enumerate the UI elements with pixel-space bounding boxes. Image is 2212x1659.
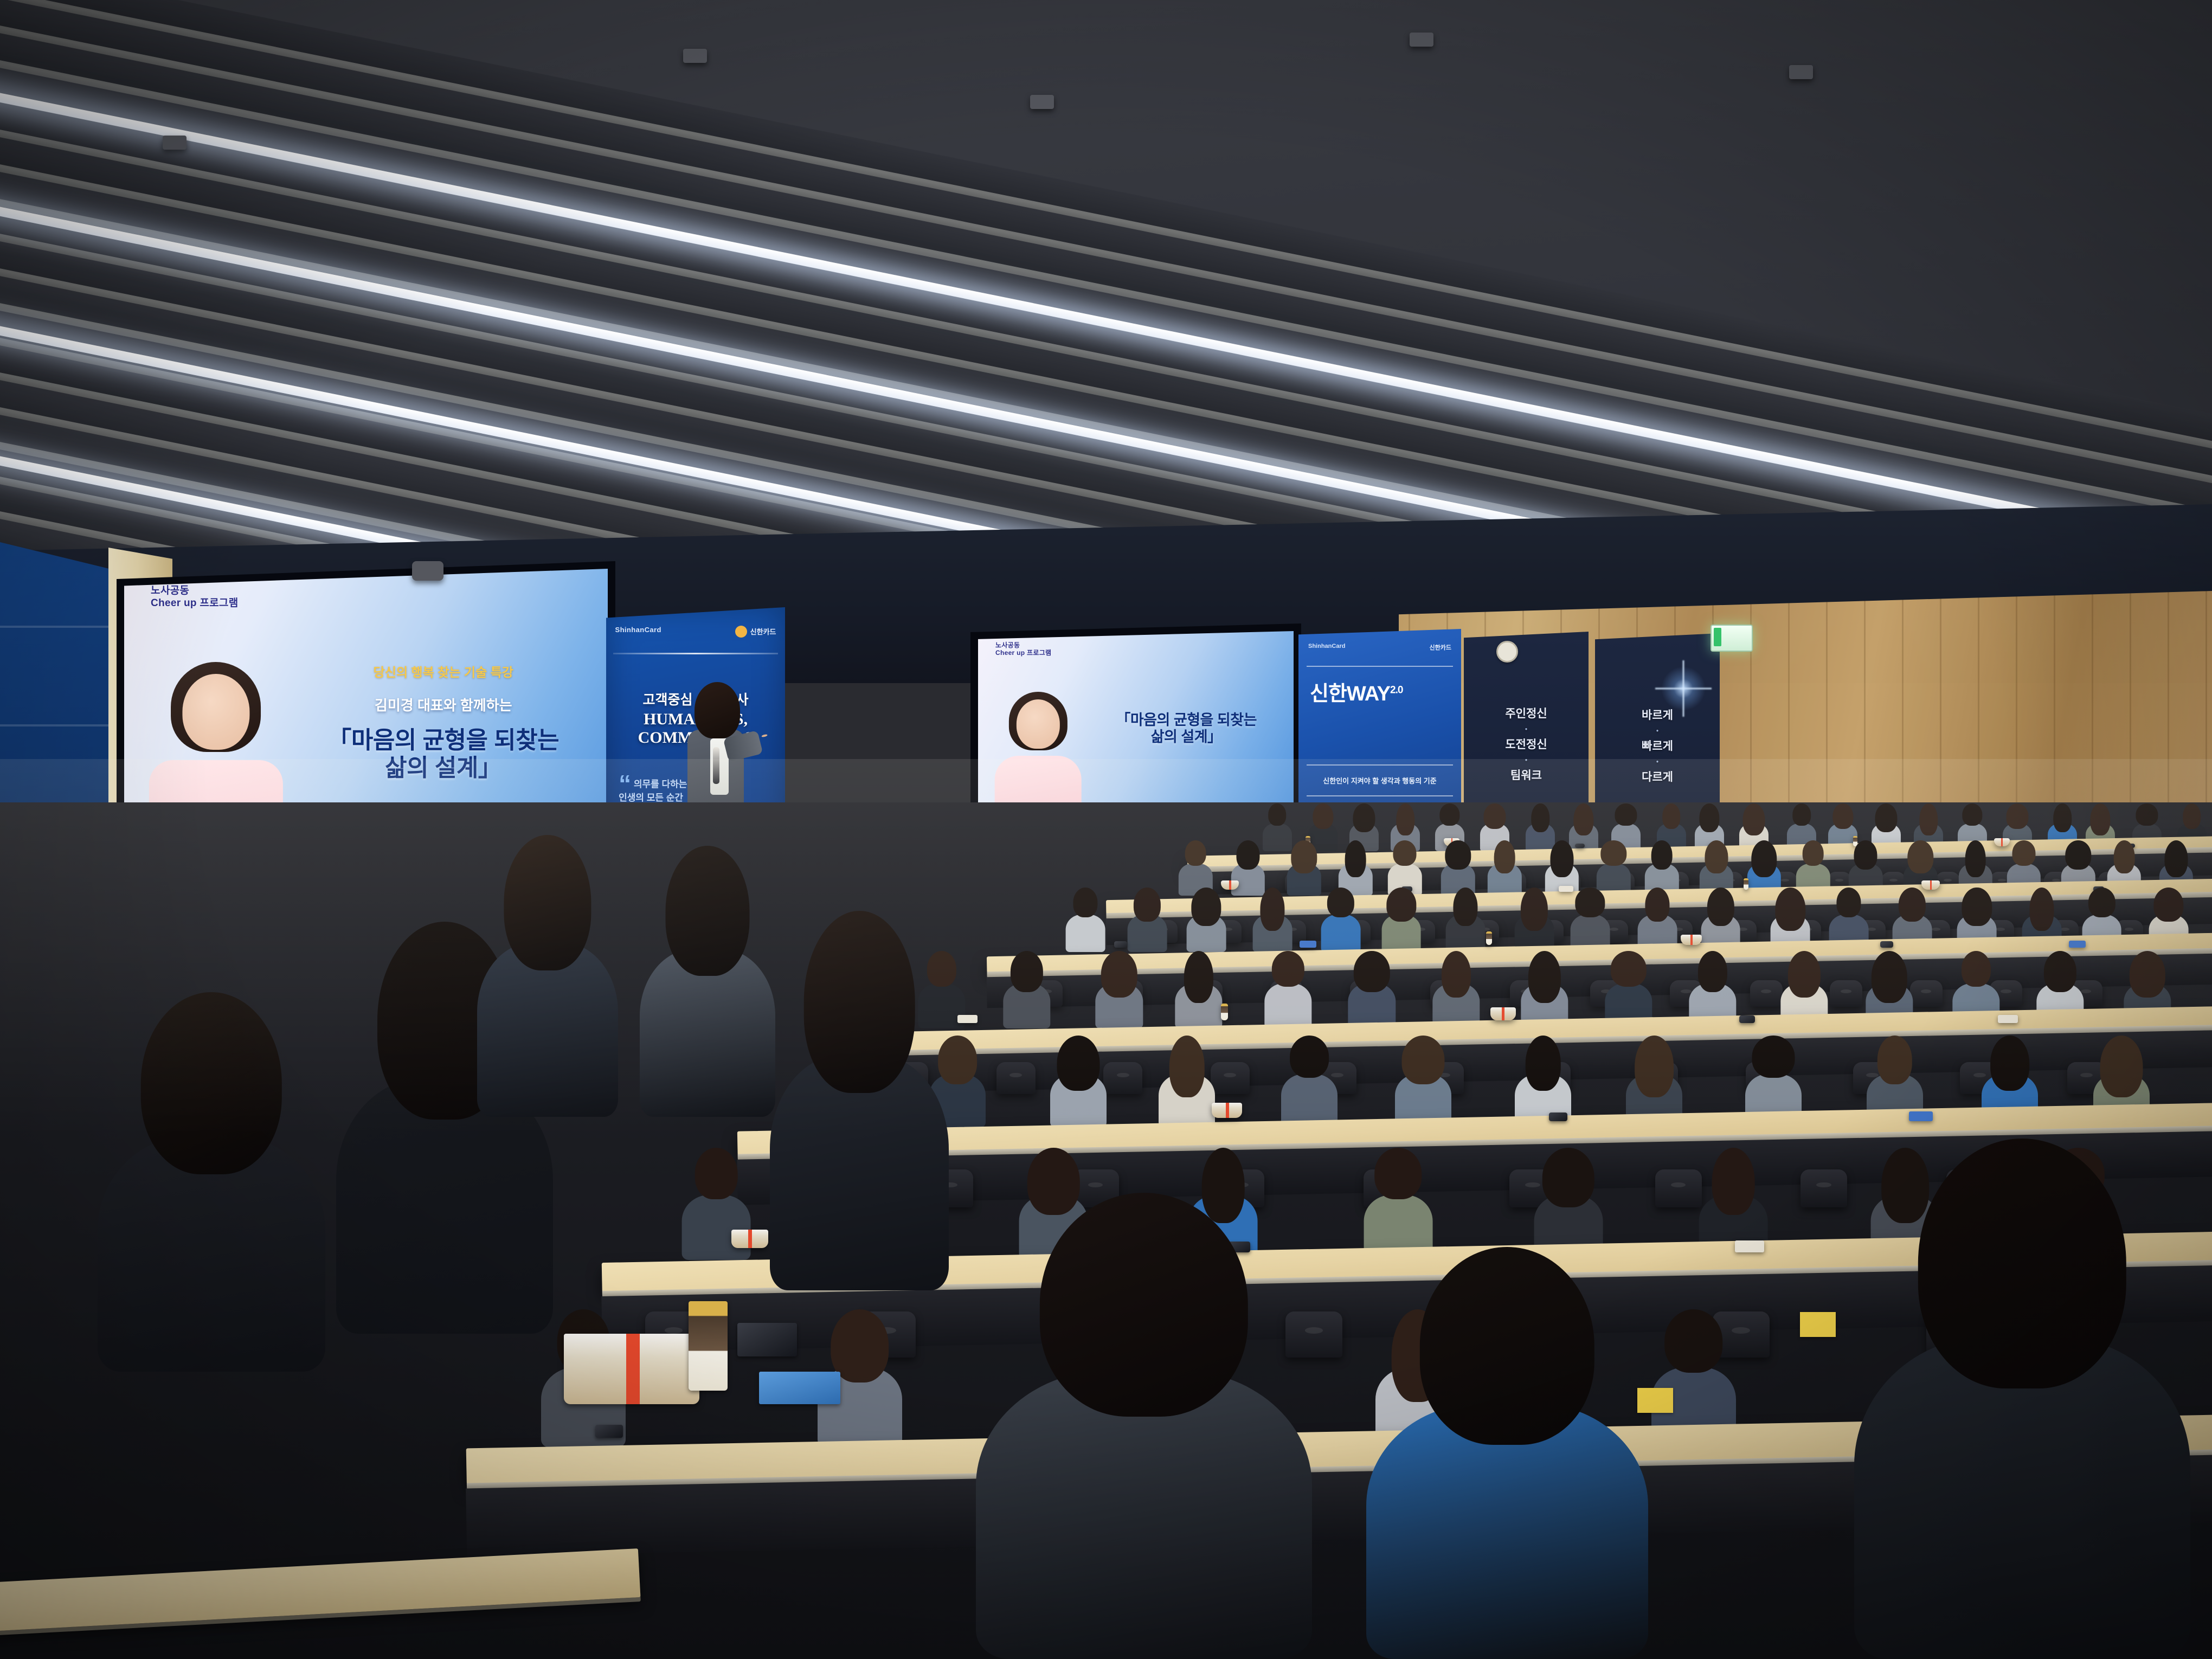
audience-member <box>1175 951 1222 1028</box>
smartphone[interactable] <box>1114 941 1127 947</box>
repeater-title-line1: 「마음의 균형을 되찾는 <box>1089 712 1284 729</box>
chair[interactable] <box>1103 1062 1142 1094</box>
foreground-attendee <box>976 1193 1312 1659</box>
foreground-attendee <box>770 911 949 1290</box>
audience-member <box>1186 888 1226 952</box>
panel-divider <box>613 653 778 654</box>
drink-bottle <box>689 1301 728 1391</box>
chair[interactable] <box>996 1062 1036 1094</box>
foreground-attendee <box>477 835 618 1117</box>
foreground-attendee <box>640 846 775 1117</box>
repeater-corner-label: 노사공동 Cheer up 프로그램 <box>995 641 1051 657</box>
wall-clock-icon <box>1496 641 1518 663</box>
blue-notebook <box>957 1015 978 1023</box>
smartphone[interactable] <box>1549 1113 1567 1121</box>
foreground-attendee <box>1854 1139 2190 1659</box>
smartphone[interactable] <box>1880 941 1893 947</box>
boxed-lunch <box>1212 1103 1242 1118</box>
blue-notebook <box>1909 1111 1933 1121</box>
boxed-lunch <box>1490 1007 1516 1020</box>
way-subtitle: 신한인이 지켜야 할 생각과 행동의 기준 <box>1298 775 1461 786</box>
slide-subtitle: 김미경 대표와 함께하는 <box>293 695 593 715</box>
audience-member <box>1159 1036 1215 1128</box>
audience-member <box>1003 951 1050 1028</box>
values-right-column: 바르게 • 빠르게 • 다르게 <box>1595 706 1720 788</box>
audience-member <box>1050 1036 1107 1128</box>
drink-bottle <box>1486 931 1492 945</box>
chair[interactable] <box>1211 1062 1250 1094</box>
audience-member <box>1446 888 1486 952</box>
brand-mark-icon <box>735 626 747 638</box>
audience-member <box>1321 888 1361 952</box>
drink-bottle <box>1744 878 1749 890</box>
audience-member <box>1281 1036 1338 1128</box>
way-logo-right: 신한카드 <box>1430 643 1451 652</box>
drink-bottle <box>1221 1004 1228 1020</box>
audience-member <box>1381 888 1421 952</box>
values-left-column: 주인정신 • 도전정신 • 팀워크 <box>1464 704 1589 786</box>
blue-notebook <box>1300 941 1316 948</box>
smartphone[interactable] <box>595 1425 623 1438</box>
audience-member <box>1128 888 1167 952</box>
handheld-microphone-icon <box>713 747 719 784</box>
foreground-attendee <box>98 992 325 1372</box>
audience-member <box>1253 888 1293 952</box>
audience-member <box>1364 1148 1432 1260</box>
boxed-lunch <box>1681 935 1702 946</box>
audience-member <box>1264 951 1311 1028</box>
chair[interactable] <box>1801 1169 1847 1207</box>
blue-notebook <box>2069 941 2086 948</box>
boxed-lunch <box>564 1334 699 1404</box>
audience-member <box>1637 888 1677 952</box>
slide-eyebrow: 당신의 행복 찾는 기술 특강 <box>293 662 593 680</box>
boxed-lunch <box>731 1230 768 1248</box>
chair[interactable] <box>1750 980 1783 1007</box>
foreground-attendee <box>1366 1247 1648 1659</box>
repeater-title-line2: 삶의 설계」 <box>1089 729 1284 745</box>
track-spotlight-icon <box>412 561 443 581</box>
audience-member <box>1395 1036 1451 1128</box>
audience-member <box>1348 951 1396 1028</box>
panel-logo-right: 신한카드 <box>735 626 776 638</box>
smartphone[interactable] <box>737 1323 797 1356</box>
audience-member <box>1096 951 1143 1028</box>
screen-corner-label: 노사공동 Cheer up 프로그램 <box>151 584 238 609</box>
chair[interactable] <box>1655 1169 1702 1207</box>
light-glare-icon <box>1659 664 1708 713</box>
slide-title-line2: 삶의 설계」 <box>293 754 593 782</box>
audience-member <box>1605 951 1652 1028</box>
panel-logo-left: ShinhanCard <box>615 626 661 634</box>
chair[interactable] <box>1910 980 1943 1007</box>
audience-member <box>1515 888 1554 952</box>
emergency-exit-icon <box>1711 625 1753 652</box>
way-logo-left: ShinhanCard <box>1308 643 1345 650</box>
blue-notebook <box>1735 1240 1764 1252</box>
audience-member <box>1432 951 1480 1028</box>
smartphone[interactable] <box>1739 1015 1755 1023</box>
yellow-sticky-note <box>1800 1312 1836 1337</box>
audience-member <box>1066 888 1105 952</box>
blue-notebook <box>1998 1015 2018 1023</box>
way-title: 신한WAY2.0 <box>1310 677 1403 706</box>
audience-member <box>1521 951 1568 1028</box>
audience-member <box>1571 888 1610 952</box>
auditorium-photo: 주인정신 • 도전정신 • 팀워크 바르게 • 빠르게 • 다르게 노사공동 C… <box>0 0 2212 1659</box>
blue-notebook <box>759 1372 840 1404</box>
chair[interactable] <box>1830 980 1862 1007</box>
slide-title-line1: 「마음의 균형을 되찾는 <box>293 726 593 754</box>
